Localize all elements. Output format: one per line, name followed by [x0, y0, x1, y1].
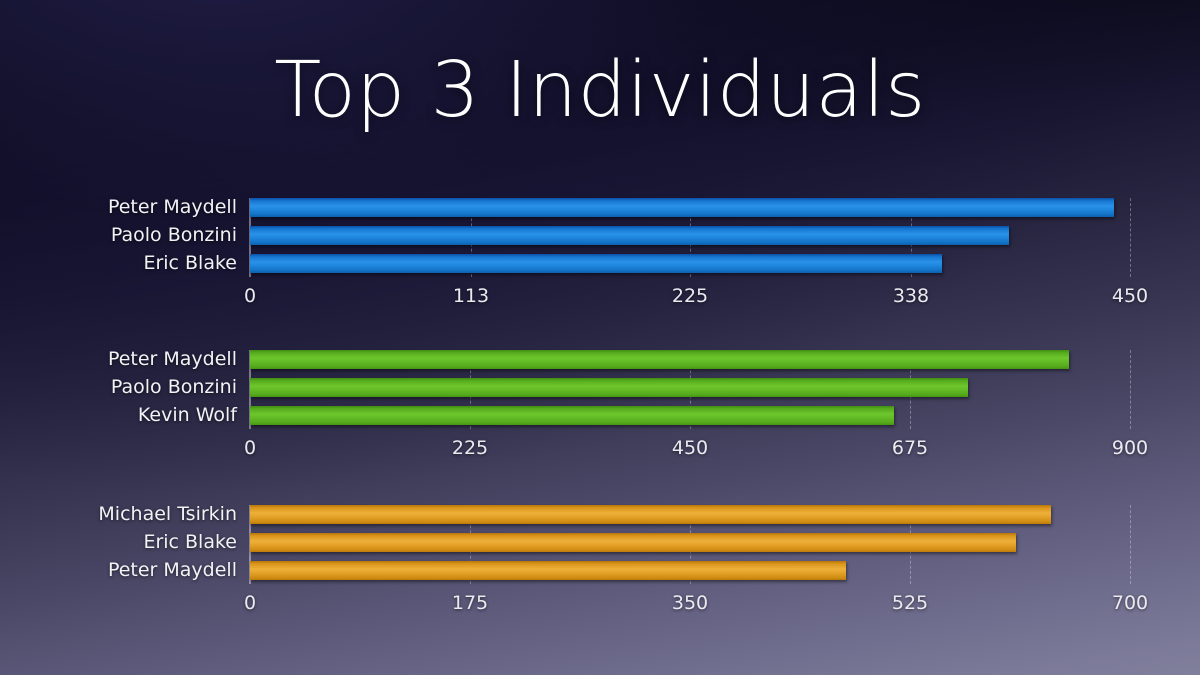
- x-axis-tick-label: 0: [244, 439, 256, 458]
- gridline: [1130, 198, 1131, 277]
- bar-chart-orange: Michael TsirkinEric BlakePeter Maydell01…: [0, 505, 1200, 628]
- x-axis-tick-label: 225: [672, 287, 708, 306]
- presentation-slide: Top 3 Individuals Peter MaydellPaolo Bon…: [0, 0, 1200, 675]
- bar: [250, 505, 1051, 524]
- x-axis-tick-label: 450: [672, 439, 708, 458]
- gridline: [1130, 505, 1131, 584]
- x-axis-tick-label: 0: [244, 594, 256, 613]
- bar: [250, 198, 1114, 217]
- category-label: Peter Maydell: [108, 198, 237, 217]
- x-axis-tick-label: 113: [453, 287, 489, 306]
- category-label: Michael Tsirkin: [98, 505, 237, 524]
- category-label: Paolo Bonzini: [111, 378, 237, 397]
- bar-fill: [250, 226, 1009, 245]
- bar-fill: [250, 505, 1051, 524]
- bar-fill: [250, 406, 894, 425]
- category-label: Peter Maydell: [108, 350, 237, 369]
- x-axis-tick-label: 225: [452, 439, 488, 458]
- bar-fill: [250, 198, 1114, 217]
- x-axis-tick-label: 450: [1112, 287, 1148, 306]
- bar: [250, 561, 846, 580]
- bar: [250, 350, 1069, 369]
- x-axis-tick-label: 338: [893, 287, 929, 306]
- bar: [250, 226, 1009, 245]
- x-axis-tick-label: 900: [1112, 439, 1148, 458]
- category-label: Paolo Bonzini: [111, 226, 237, 245]
- bar: [250, 533, 1016, 552]
- bar: [250, 406, 894, 425]
- bar-fill: [250, 561, 846, 580]
- x-axis-tick-label: 700: [1112, 594, 1148, 613]
- bar-chart-blue: Peter MaydellPaolo BonziniEric Blake0113…: [0, 198, 1200, 318]
- bar-fill: [250, 533, 1016, 552]
- x-axis-tick-label: 0: [244, 287, 256, 306]
- bar-fill: [250, 350, 1069, 369]
- category-label: Peter Maydell: [108, 561, 237, 580]
- x-axis-tick-label: 525: [892, 594, 928, 613]
- x-axis-tick-label: 675: [892, 439, 928, 458]
- bar-fill: [250, 254, 942, 273]
- category-label: Eric Blake: [143, 533, 237, 552]
- page-title: Top 3 Individuals: [0, 52, 1200, 129]
- category-label: Kevin Wolf: [138, 406, 237, 425]
- bar: [250, 378, 968, 397]
- bar-chart-green: Peter MaydellPaolo BonziniKevin Wolf0225…: [0, 350, 1200, 470]
- x-axis-tick-label: 350: [672, 594, 708, 613]
- x-axis-tick-label: 175: [452, 594, 488, 613]
- category-label: Eric Blake: [143, 254, 237, 273]
- bar-fill: [250, 378, 968, 397]
- bar: [250, 254, 942, 273]
- gridline: [1130, 350, 1131, 429]
